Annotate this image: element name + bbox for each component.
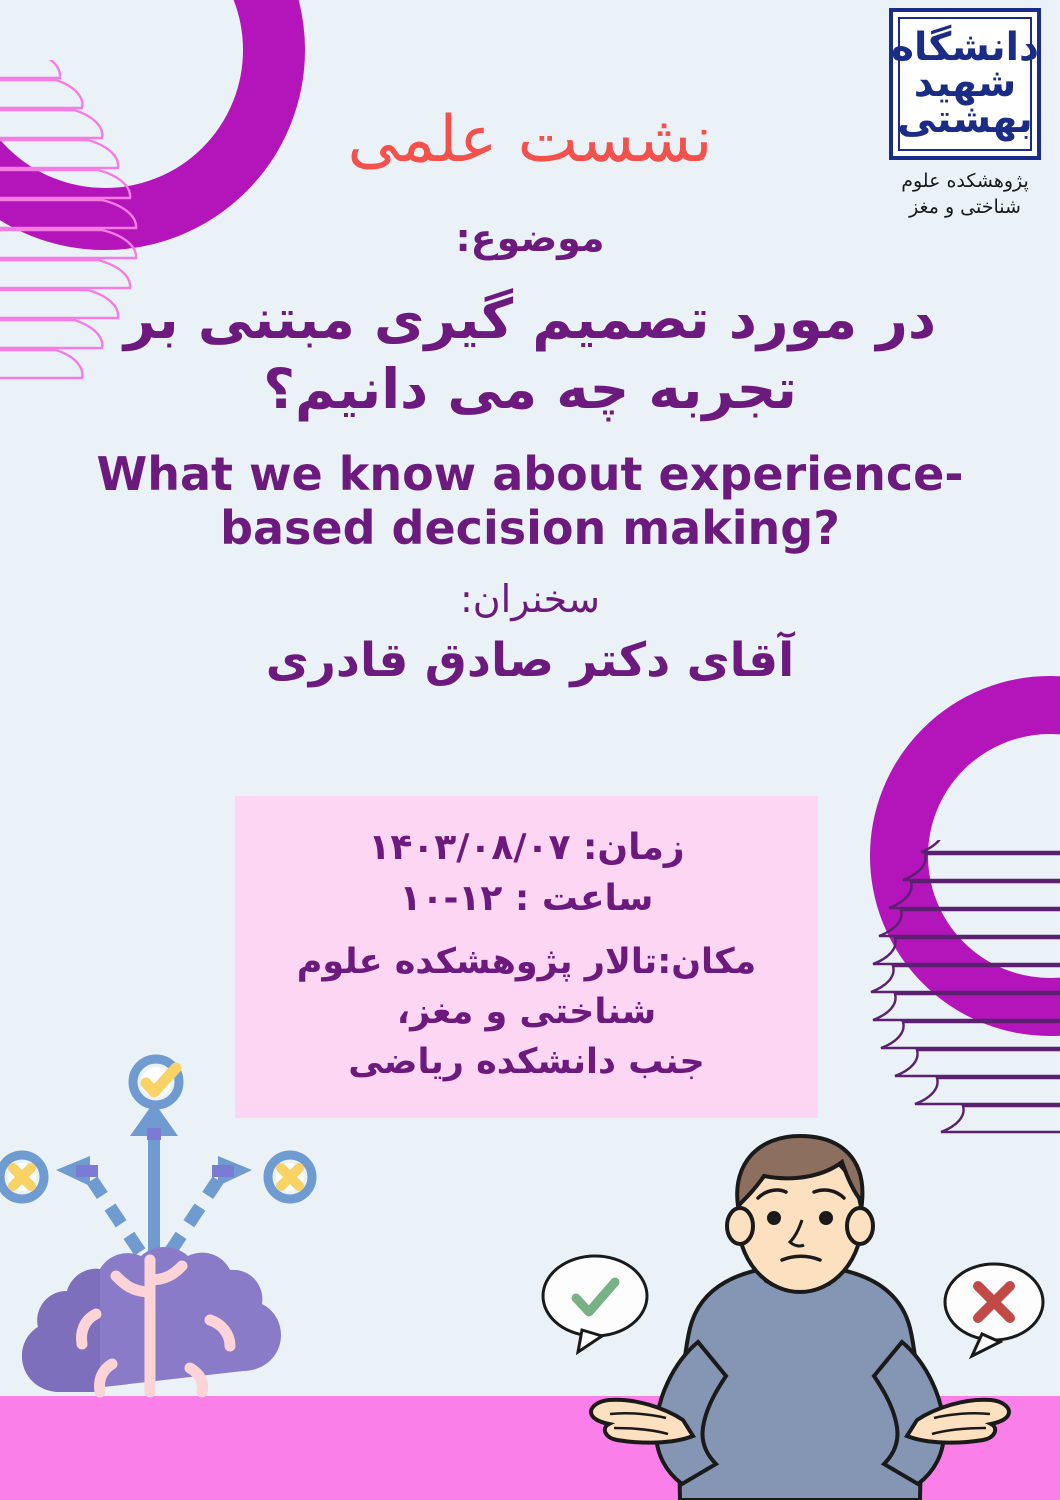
right-dashed-arrow-icon <box>170 1180 218 1252</box>
title-english-line-1: What we know about experience- <box>90 447 970 501</box>
event-kicker: نشست علمی <box>0 108 1060 172</box>
left-dashed-arrow-icon <box>92 1180 140 1252</box>
event-venue-line-1: مکان:تالار پژوهشکده علوم <box>235 938 818 988</box>
man-body <box>656 1266 944 1500</box>
title-english-line-2: based decision making? <box>90 501 970 555</box>
right-x-circle-icon <box>268 1155 312 1199</box>
man-head <box>727 1136 873 1292</box>
event-venue-line-2: شناختی و مغز، <box>235 988 818 1038</box>
left-x-circle-icon <box>0 1155 44 1199</box>
title-persian-line-1: در مورد تصمیم گیری مبتنی بر <box>60 284 1000 354</box>
speaker-label: سخنران: <box>0 577 1060 621</box>
poster-canvas: دانشگاه شهید بهشتی پژوهشکده علوم شناختی … <box>0 0 1060 1500</box>
shrugging-man-illustration <box>520 1128 1060 1500</box>
event-time: ساعت : ۱۲-۱۰ <box>235 873 818 924</box>
poster-content: نشست علمی موضوع: در مورد تصمیم گیری مبتن… <box>0 0 1060 688</box>
subject-label: موضوع: <box>0 216 1060 260</box>
brain-decision-illustration <box>0 1052 345 1412</box>
decor-spiral-right <box>845 840 1060 1160</box>
x-speech-bubble <box>945 1264 1043 1356</box>
decor-ring-right <box>870 676 1060 1036</box>
brain-icon <box>22 1247 281 1392</box>
right-arrow-tail <box>212 1165 234 1177</box>
up-arrow-icon <box>130 1102 178 1252</box>
title-persian-line-2: تجربه چه می دانیم؟ <box>60 354 1000 424</box>
speaker-name: آقای دکتر صادق قادری <box>0 633 1060 688</box>
title-persian: در مورد تصمیم گیری مبتنی بر تجربه چه می … <box>0 284 1060 425</box>
event-date: زمان: ۱۴۰۳/۰۸/۰۷ <box>235 822 818 873</box>
title-english: What we know about experience- based dec… <box>0 447 1060 556</box>
left-arrow-tail <box>76 1165 98 1177</box>
check-speech-bubble <box>543 1256 647 1352</box>
check-circle-icon <box>133 1059 179 1105</box>
